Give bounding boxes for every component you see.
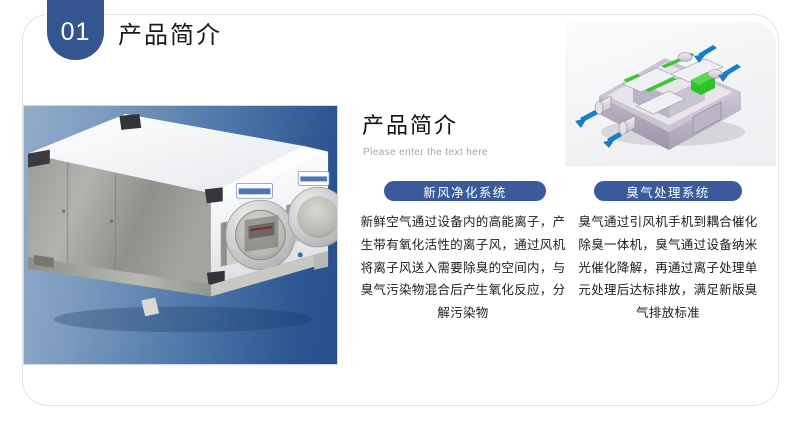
tag-fresh-air-purification[interactable]: 新风净化系统 [384, 181, 546, 201]
product-3d-illustration [565, 22, 776, 166]
intro-heading: 产品简介 [362, 108, 458, 140]
intro-placeholder-text: Please enter the text here [363, 147, 488, 158]
description-odor-treatment: 臭气通过引风机手机到耦合催化除臭一体机，臭气通过设备纳米光催化降解，再通过离子处… [578, 211, 758, 325]
product-photo [23, 105, 338, 365]
tag-odor-treatment[interactable]: 臭气处理系统 [594, 181, 742, 201]
section-number-label: 01 [61, 20, 91, 45]
section-number-badge: 01 [47, 0, 104, 60]
tag-label: 臭气处理系统 [626, 182, 709, 201]
page-title: 产品简介 [118, 22, 222, 51]
product-photo-illustration [24, 106, 337, 364]
description-fresh-air-purification: 新鲜空气通过设备内的高能离子，产生带有氧化活性的离子风，通过风机将离子风送入需要… [356, 211, 570, 325]
product-intro-page: 01 产品简介 [0, 0, 800, 421]
tag-label: 新风净化系统 [423, 182, 506, 201]
product-3d-diagram [565, 22, 776, 166]
